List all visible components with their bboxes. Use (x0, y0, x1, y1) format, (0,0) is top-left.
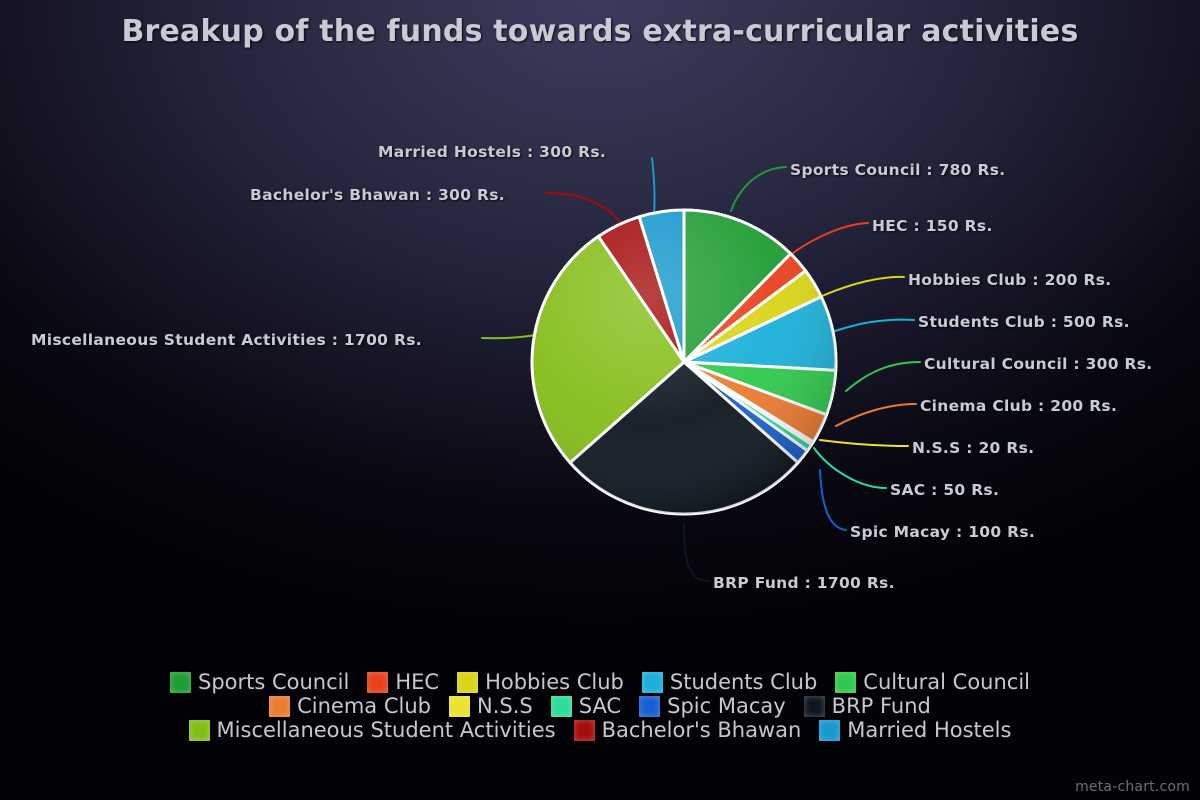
legend-swatch-students-club (642, 672, 663, 693)
legend-label-spic-macay: Spic Macay (667, 696, 786, 717)
legend-item-miscellaneous-student-activities[interactable]: Miscellaneous Student Activities (189, 720, 556, 741)
legend-item-students-club[interactable]: Students Club (642, 672, 817, 693)
legend-item-bachelor-s-bhawan[interactable]: Bachelor's Bhawan (574, 720, 802, 741)
legend-label-cultural-council: Cultural Council (863, 672, 1030, 693)
legend-label-bachelor-s-bhawan: Bachelor's Bhawan (602, 720, 802, 741)
callout-label-cultural-council: Cultural Council : 300 Rs. (924, 355, 1152, 373)
leader-line-sac (814, 448, 886, 488)
legend-item-hobbies-club[interactable]: Hobbies Club (457, 672, 624, 693)
callout-label-sac: SAC : 50 Rs. (890, 481, 999, 499)
leader-line-hobbies-club (822, 277, 904, 296)
legend-item-hec[interactable]: HEC (367, 672, 439, 693)
legend-swatch-cultural-council (835, 672, 856, 693)
leader-line-bachelors-bhawan (546, 193, 624, 228)
legend-label-cinema-club: Cinema Club (297, 696, 431, 717)
legend-swatch-cinema-club (269, 696, 290, 717)
legend-item-cultural-council[interactable]: Cultural Council (835, 672, 1030, 693)
legend-swatch-sac (551, 696, 572, 717)
callout-label-spic-macay: Spic Macay : 100 Rs. (850, 523, 1035, 541)
callout-label-miscellaneous-student-activities: Miscellaneous Student Activities : 1700 … (31, 331, 422, 349)
leader-line-students-club (826, 320, 914, 334)
legend-label-brp-fund: BRP Fund (832, 696, 931, 717)
legend-swatch-hobbies-club (457, 672, 478, 693)
leader-line-nss (820, 440, 908, 446)
leader-line-spic-macay (820, 470, 846, 530)
legend-swatch-brp-fund (804, 696, 825, 717)
legend-label-married-hostels: Married Hostels (847, 720, 1011, 741)
callout-label-nss: N.S.S : 20 Rs. (912, 439, 1034, 457)
chart-legend: Sports CouncilHECHobbies ClubStudents Cl… (0, 672, 1200, 741)
legend-swatch-n-s-s (449, 696, 470, 717)
legend-label-miscellaneous-student-activities: Miscellaneous Student Activities (217, 720, 556, 741)
legend-swatch-sports-council (170, 672, 191, 693)
legend-item-married-hostels[interactable]: Married Hostels (819, 720, 1011, 741)
legend-item-sports-council[interactable]: Sports Council (170, 672, 349, 693)
callout-label-hobbies-club: Hobbies Club : 200 Rs. (908, 271, 1111, 289)
legend-label-hobbies-club: Hobbies Club (485, 672, 624, 693)
callout-label-married-hostels: Married Hostels : 300 Rs. (378, 143, 606, 161)
legend-label-hec: HEC (395, 672, 439, 693)
legend-swatch-bachelor-s-bhawan (574, 720, 595, 741)
legend-item-brp-fund[interactable]: BRP Fund (804, 696, 931, 717)
leader-line-married-hostels (652, 158, 655, 214)
legend-item-cinema-club[interactable]: Cinema Club (269, 696, 431, 717)
pie-slices: Sports Council : 780 Rs.HEC : 150 Rs.Hob… (532, 210, 836, 514)
chart-canvas: Breakup of the funds towards extra-curri… (0, 0, 1200, 800)
leader-line-cultural-council (846, 362, 920, 391)
legend-swatch-spic-macay (639, 696, 660, 717)
legend-label-n-s-s: N.S.S (477, 696, 533, 717)
legend-item-n-s-s[interactable]: N.S.S (449, 696, 533, 717)
legend-swatch-miscellaneous-student-activities (189, 720, 210, 741)
leader-line-cinema-club (836, 404, 916, 426)
callout-label-bachelors-bhawan: Bachelor's Bhawan : 300 Rs. (250, 186, 505, 204)
leader-line-brp-fund (684, 523, 709, 581)
legend-row: Sports CouncilHECHobbies ClubStudents Cl… (170, 672, 1030, 693)
callout-label-students-club: Students Club : 500 Rs. (918, 313, 1130, 331)
legend-item-spic-macay[interactable]: Spic Macay (639, 696, 786, 717)
legend-row: Cinema ClubN.S.SSACSpic MacayBRP Fund (269, 696, 931, 717)
callout-label-cinema-club: Cinema Club : 200 Rs. (920, 397, 1117, 415)
callout-label-hec: HEC : 150 Rs. (872, 217, 993, 235)
legend-label-students-club: Students Club (670, 672, 817, 693)
watermark: meta-chart.com (1075, 779, 1190, 795)
legend-row: Miscellaneous Student ActivitiesBachelor… (189, 720, 1012, 741)
leader-line-sports-council (731, 167, 786, 211)
callout-label-sports-council: Sports Council : 780 Rs. (790, 161, 1005, 179)
legend-item-sac[interactable]: SAC (551, 696, 621, 717)
legend-label-sports-council: Sports Council (198, 672, 349, 693)
legend-swatch-hec (367, 672, 388, 693)
legend-swatch-married-hostels (819, 720, 840, 741)
callout-label-brp-fund: BRP Fund : 1700 Rs. (713, 574, 895, 592)
legend-label-sac: SAC (579, 696, 621, 717)
